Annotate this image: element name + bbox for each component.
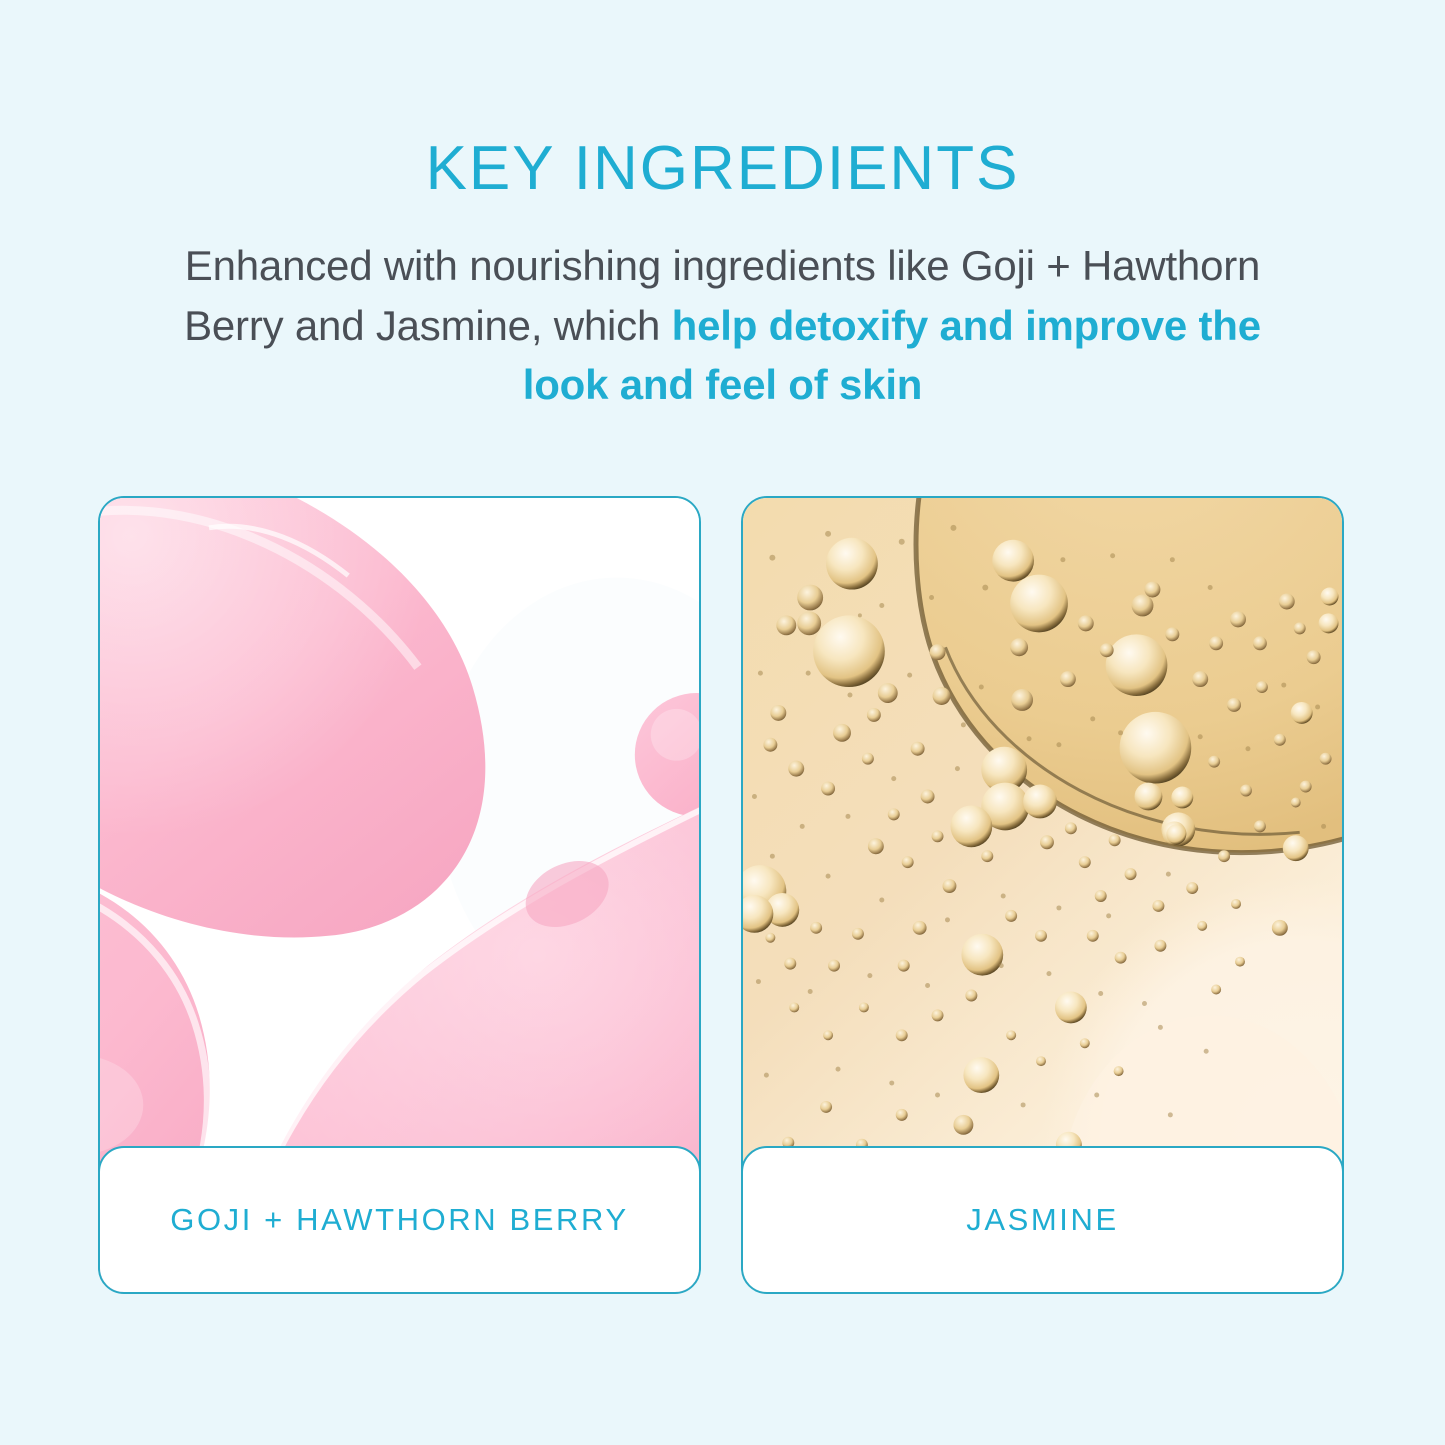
page-title: KEY INGREDIENTS	[0, 138, 1445, 200]
ingredient-card-row: GOJI + HAWTHORN BERRY	[98, 496, 1344, 1294]
ingredient-name-label: JASMINE	[966, 1202, 1119, 1238]
card-label-plate: GOJI + HAWTHORN BERRY	[98, 1146, 701, 1294]
header: KEY INGREDIENTS Enhanced with nourishing…	[0, 0, 1445, 415]
key-ingredients-panel: KEY INGREDIENTS Enhanced with nourishing…	[0, 0, 1445, 1445]
ingredient-name-label: GOJI + HAWTHORN BERRY	[170, 1202, 629, 1238]
ingredient-card-jasmine[interactable]: JASMINE	[741, 496, 1344, 1294]
ingredient-card-goji-hawthorn-berry[interactable]: GOJI + HAWTHORN BERRY	[98, 496, 701, 1294]
card-label-plate: JASMINE	[741, 1146, 1344, 1294]
subtitle: Enhanced with nourishing ingredients lik…	[173, 236, 1273, 415]
